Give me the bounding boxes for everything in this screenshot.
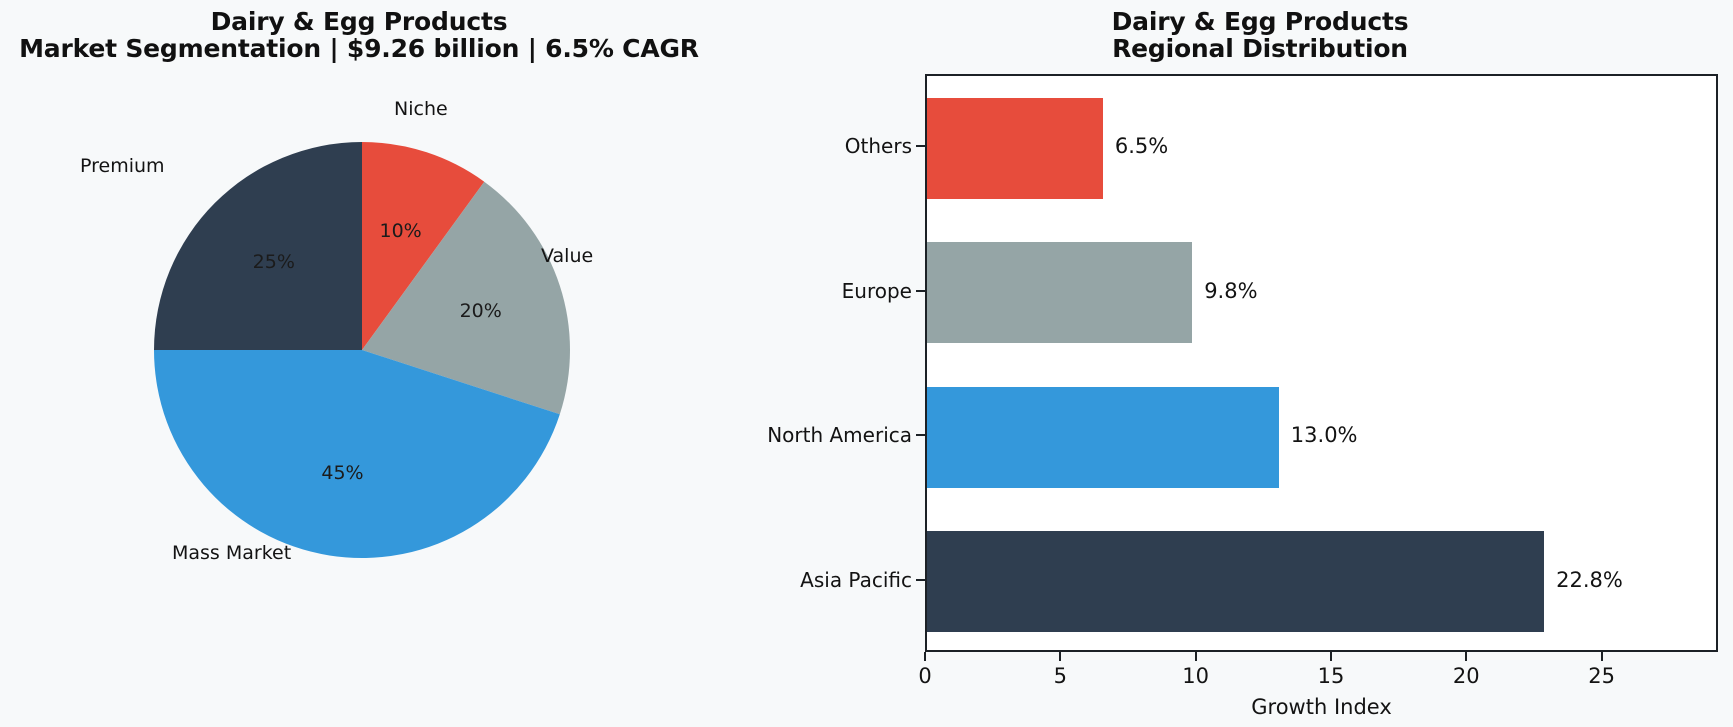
x-tick-mark [1059,652,1061,661]
x-tick-mark [1465,652,1467,661]
y-tick-mark [916,579,925,581]
bar-value-europe: 9.8% [1204,279,1257,303]
x-axis-title: Growth Index [925,695,1718,719]
x-tick-label: 25 [1588,664,1615,688]
x-tick-label: 0 [918,664,931,688]
bar-north-america[interactable] [927,387,1279,488]
y-tick-mark [916,290,925,292]
x-tick-label: 15 [1318,664,1345,688]
bar-value-others: 6.5% [1115,134,1168,158]
bar-europe[interactable] [927,242,1192,343]
bar-value-asia-pacific: 22.8% [1556,568,1623,592]
y-tick-label-north-america: North America [767,423,912,447]
bar-others[interactable] [927,98,1103,199]
y-tick-label-europe: Europe [842,279,912,303]
x-tick-mark [924,652,926,661]
y-tick-label-asia-pacific: Asia Pacific [800,568,912,592]
x-tick-label: 10 [1182,664,1209,688]
figure-canvas: Dairy & Egg Products Market Segmentation… [0,0,1733,727]
bar-chart-plot-area [925,74,1718,652]
x-tick-mark [1601,652,1603,661]
y-tick-mark [916,145,925,147]
bar-chart-panel: 22.8% 13.0% 9.8% 6.5% Asia Pacific North… [0,0,1733,727]
y-tick-label-others: Others [845,134,912,158]
x-tick-label: 20 [1453,664,1480,688]
y-tick-mark [916,434,925,436]
x-tick-mark [1330,652,1332,661]
bar-asia-pacific[interactable] [927,531,1544,632]
y-axis-tick-labels: Asia Pacific North America Europe Others [660,0,912,727]
bar-value-north-america: 13.0% [1291,423,1358,447]
x-tick-label: 5 [1054,664,1067,688]
x-tick-mark [1195,652,1197,661]
